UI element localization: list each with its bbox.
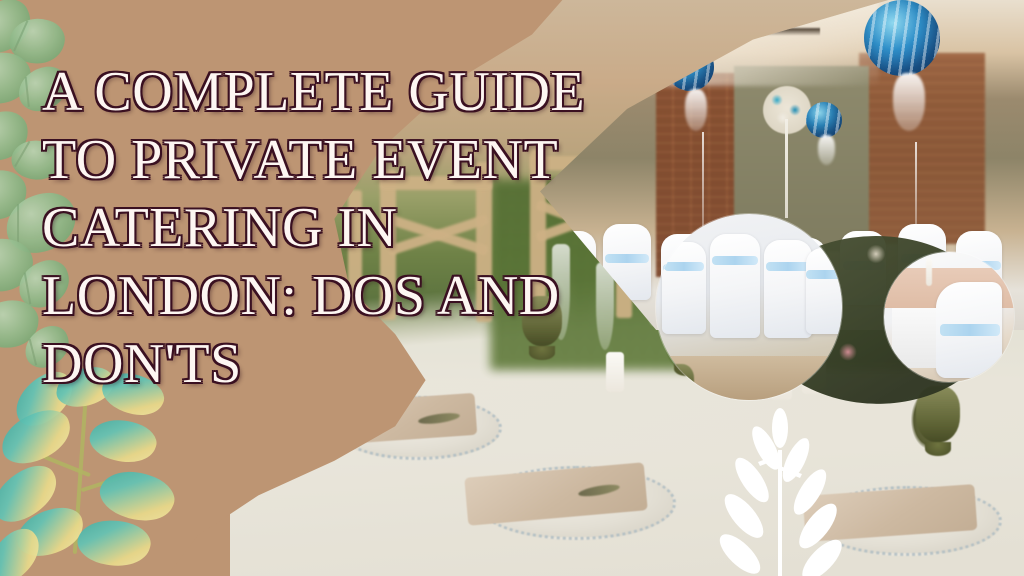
blog-banner: A COMPLETE GUIDE TO PRIVATE EVENT CATERI… [0,0,1024,576]
white-chair-covers-inset [656,214,842,400]
painted-teal-flower-decor [0,368,242,576]
balloon-icon [864,0,940,76]
page-title: A COMPLETE GUIDE TO PRIVATE EVENT CATERI… [42,58,642,398]
blush-table-inset [884,252,1014,382]
white-leaf-branch-decor [700,404,860,576]
